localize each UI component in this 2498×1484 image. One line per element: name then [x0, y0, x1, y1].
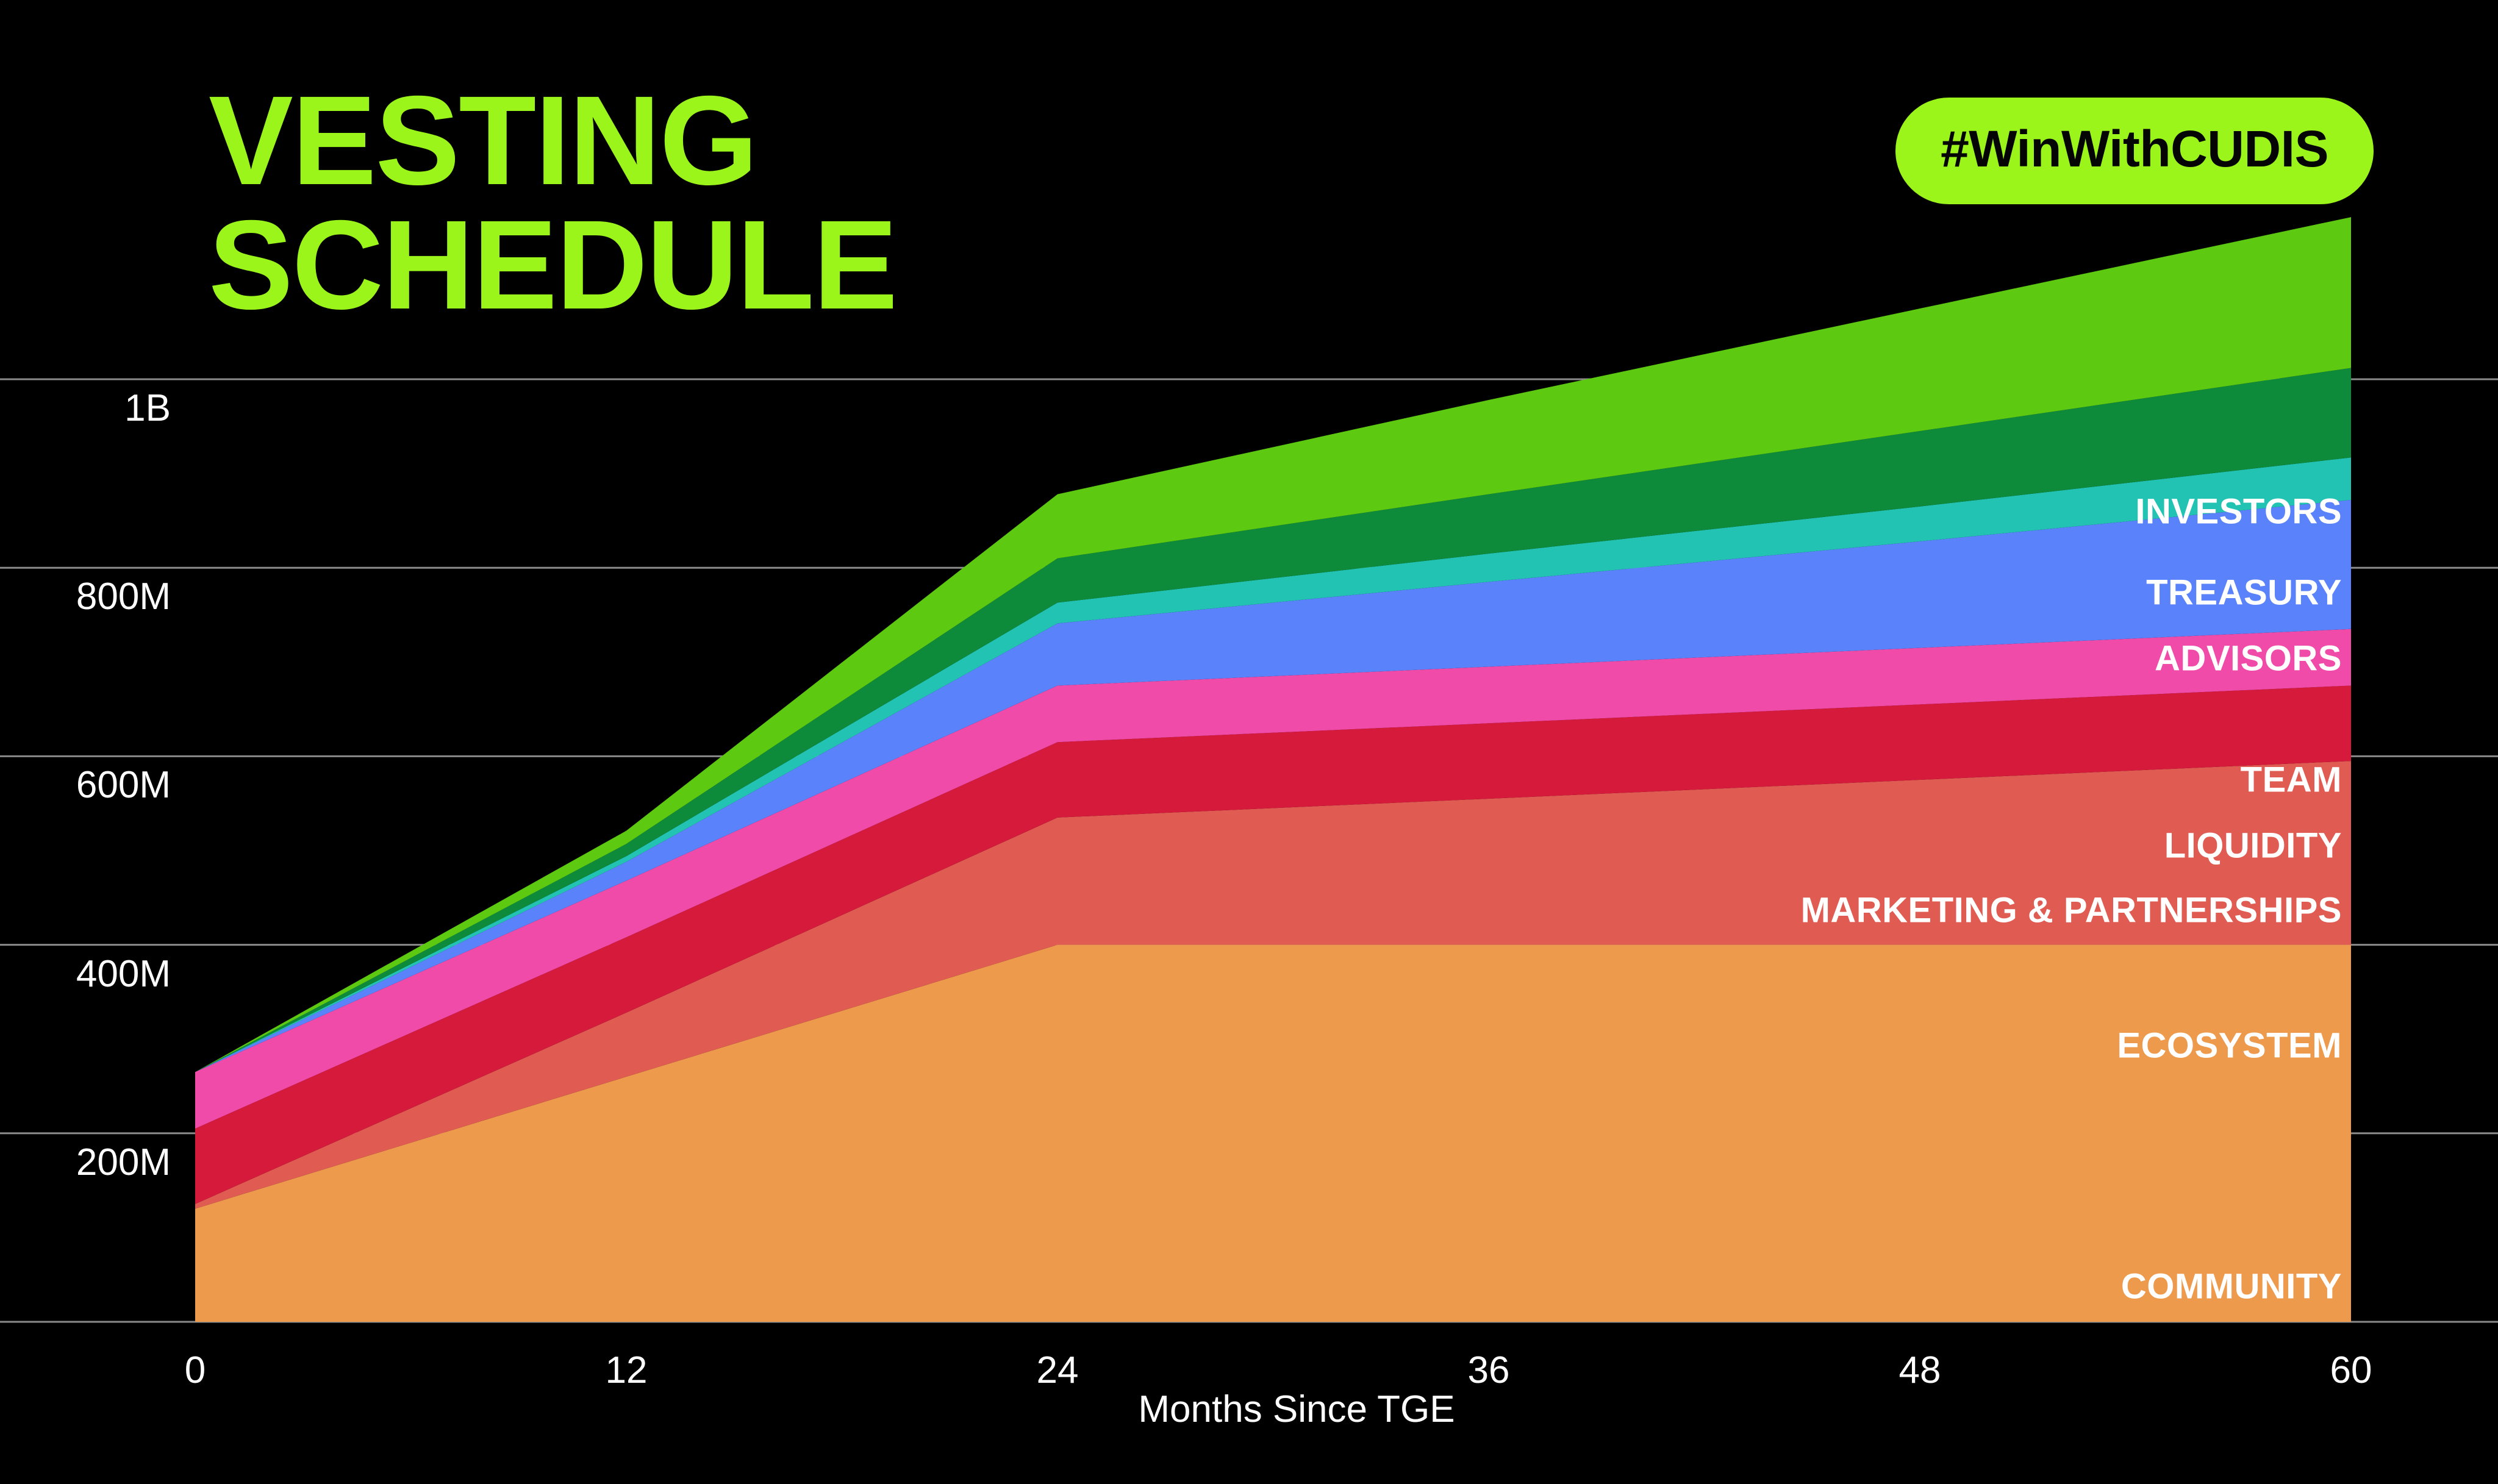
series-label-marketing-partnerships: MARKETING & PARTNERSHIPS [1801, 890, 2342, 931]
series-label-advisors: ADVISORS [2155, 638, 2342, 679]
page-title: VESTING SCHEDULE [209, 79, 896, 328]
x-axis-tick-label: 48 [1859, 1349, 1981, 1392]
y-axis-tick-label: 1B [12, 387, 171, 430]
x-axis-tick-label: 36 [1428, 1349, 1550, 1392]
y-axis-tick-label: 400M [12, 952, 171, 996]
y-axis-tick-label: 200M [12, 1141, 171, 1184]
x-axis-title: Months Since TGE [1114, 1388, 1480, 1431]
hashtag-badge[interactable]: #WinWithCUDIS [1895, 98, 2374, 204]
series-label-team: TEAM [2241, 760, 2342, 801]
y-axis-tick-label: 600M [12, 763, 171, 807]
series-label-community: COMMUNITY [2121, 1266, 2342, 1307]
series-label-ecosystem: ECOSYSTEM [2117, 1026, 2342, 1066]
series-label-treasury: TREASURY [2146, 573, 2342, 613]
y-axis-tick-label: 800M [12, 575, 171, 618]
series-label-investors: INVESTORS [2135, 491, 2342, 532]
x-axis-tick-label: 12 [565, 1349, 687, 1392]
stacked-areas [195, 217, 2351, 1322]
x-axis-tick-label: 24 [997, 1349, 1118, 1392]
x-axis-tick-label: 60 [2290, 1349, 2412, 1392]
x-axis-tick-label: 0 [134, 1349, 256, 1392]
hashtag-badge-label: #WinWithCUDIS [1941, 120, 2328, 179]
series-label-liquidity: LIQUIDITY [2164, 826, 2342, 866]
poster-root: 200M400M600M800M1B 01224364860 Months Si… [0, 0, 2498, 1484]
